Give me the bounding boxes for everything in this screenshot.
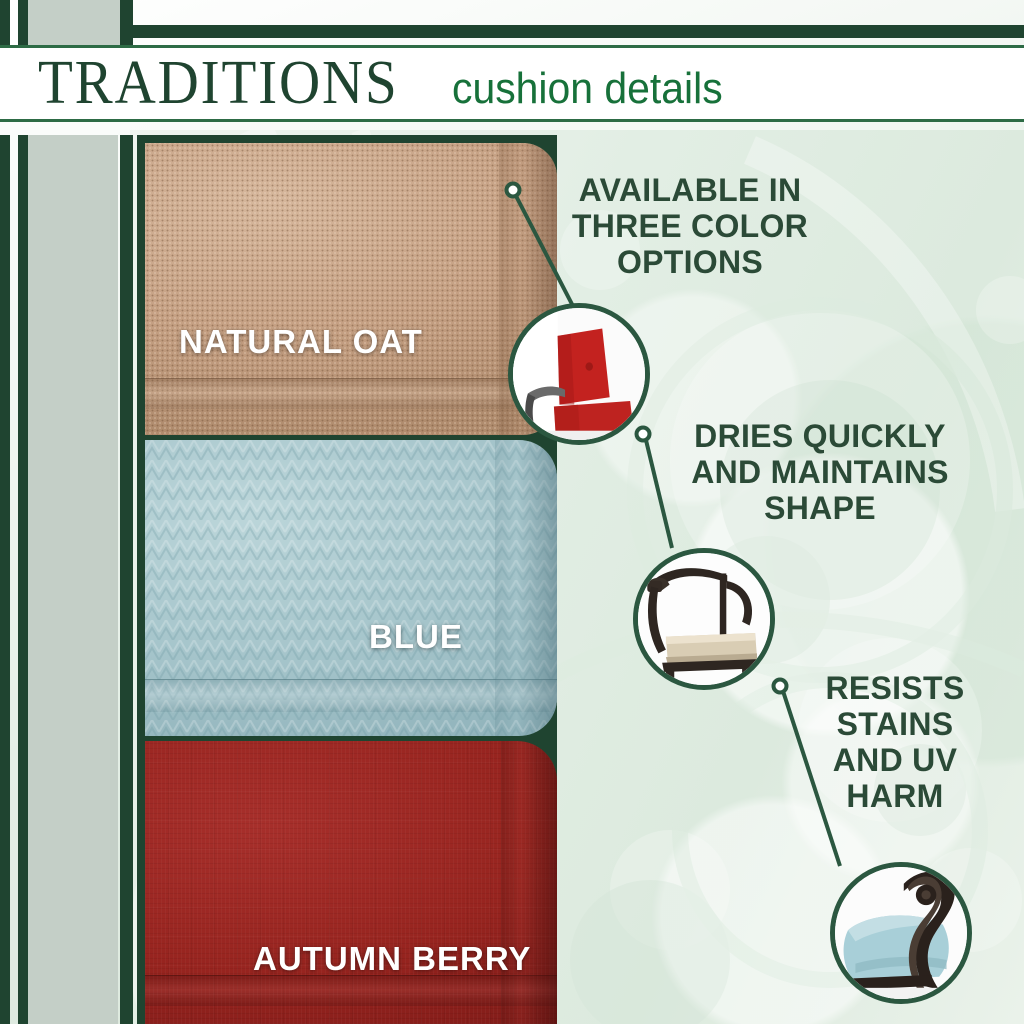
callout-2-line-2: AND MAINTAINS — [655, 454, 985, 490]
header-bar-1 — [0, 0, 10, 47]
callout-3-line-4: HARM — [790, 778, 1000, 814]
callout-3-line-1: RESISTS — [790, 670, 1000, 706]
cushion-blue — [145, 440, 557, 736]
oat-seam — [145, 378, 557, 409]
berry-seam — [145, 975, 557, 1006]
left-bar-1 — [0, 135, 10, 1024]
callout-2-line-3: SHAPE — [655, 490, 985, 526]
title-rule-top — [0, 45, 1024, 48]
berry-side-shadow — [501, 741, 557, 1024]
title-main: TRADITIONS — [38, 52, 399, 114]
callout-1-line-1: AVAILABLE IN — [540, 172, 840, 208]
title-rule-bottom — [0, 119, 1024, 122]
red-chair-cushion-photo — [513, 308, 645, 440]
tan-chair-seat-photo — [638, 553, 770, 685]
callout-1-line-3: OPTIONS — [540, 244, 840, 280]
callout-bubble-tan-chair[interactable] — [633, 548, 775, 690]
callout-bubble-blue-scroll-arm[interactable] — [830, 862, 972, 1004]
swatch-label-natural-oat: NATURAL OAT — [179, 323, 423, 361]
cushion-photo-stack: NATURAL OAT BLUE AUTUMN BERRY — [145, 143, 557, 1024]
infographic-canvas: TRADITIONS cushion details — [0, 0, 1024, 1024]
cushion-autumn-berry — [145, 741, 557, 1024]
callout-text-resists-stains: RESISTS STAINS AND UV HARM — [790, 670, 1000, 815]
header-bar-3 — [120, 0, 133, 47]
callout-bubble-red-chair[interactable] — [508, 303, 650, 445]
callout-text-color-options: AVAILABLE IN THREE COLOR OPTIONS — [540, 172, 840, 280]
blue-cushion-scroll-arm-photo — [835, 867, 967, 999]
header-bar-2 — [18, 0, 28, 47]
callout-2-line-1: DRIES QUICKLY — [655, 418, 985, 454]
callout-3-line-2: STAINS — [790, 706, 1000, 742]
page-title: TRADITIONS cushion details — [38, 52, 743, 114]
left-bar-3 — [120, 135, 133, 1024]
left-gray-panel — [28, 135, 118, 1024]
blue-side-shadow — [495, 440, 557, 736]
title-sub: cushion details — [452, 67, 723, 111]
callout-3-line-3: AND UV — [790, 742, 1000, 778]
callout-text-dries-quickly: DRIES QUICKLY AND MAINTAINS SHAPE — [655, 418, 985, 526]
swatch-label-blue: BLUE — [369, 618, 463, 656]
left-bar-2 — [18, 135, 28, 1024]
header-gray-panel — [28, 0, 133, 47]
header-top-rule — [120, 25, 1024, 38]
callout-1-line-2: THREE COLOR — [540, 208, 840, 244]
swatch-label-autumn-berry: AUTUMN BERRY — [253, 940, 531, 978]
cushion-natural-oat — [145, 143, 557, 435]
